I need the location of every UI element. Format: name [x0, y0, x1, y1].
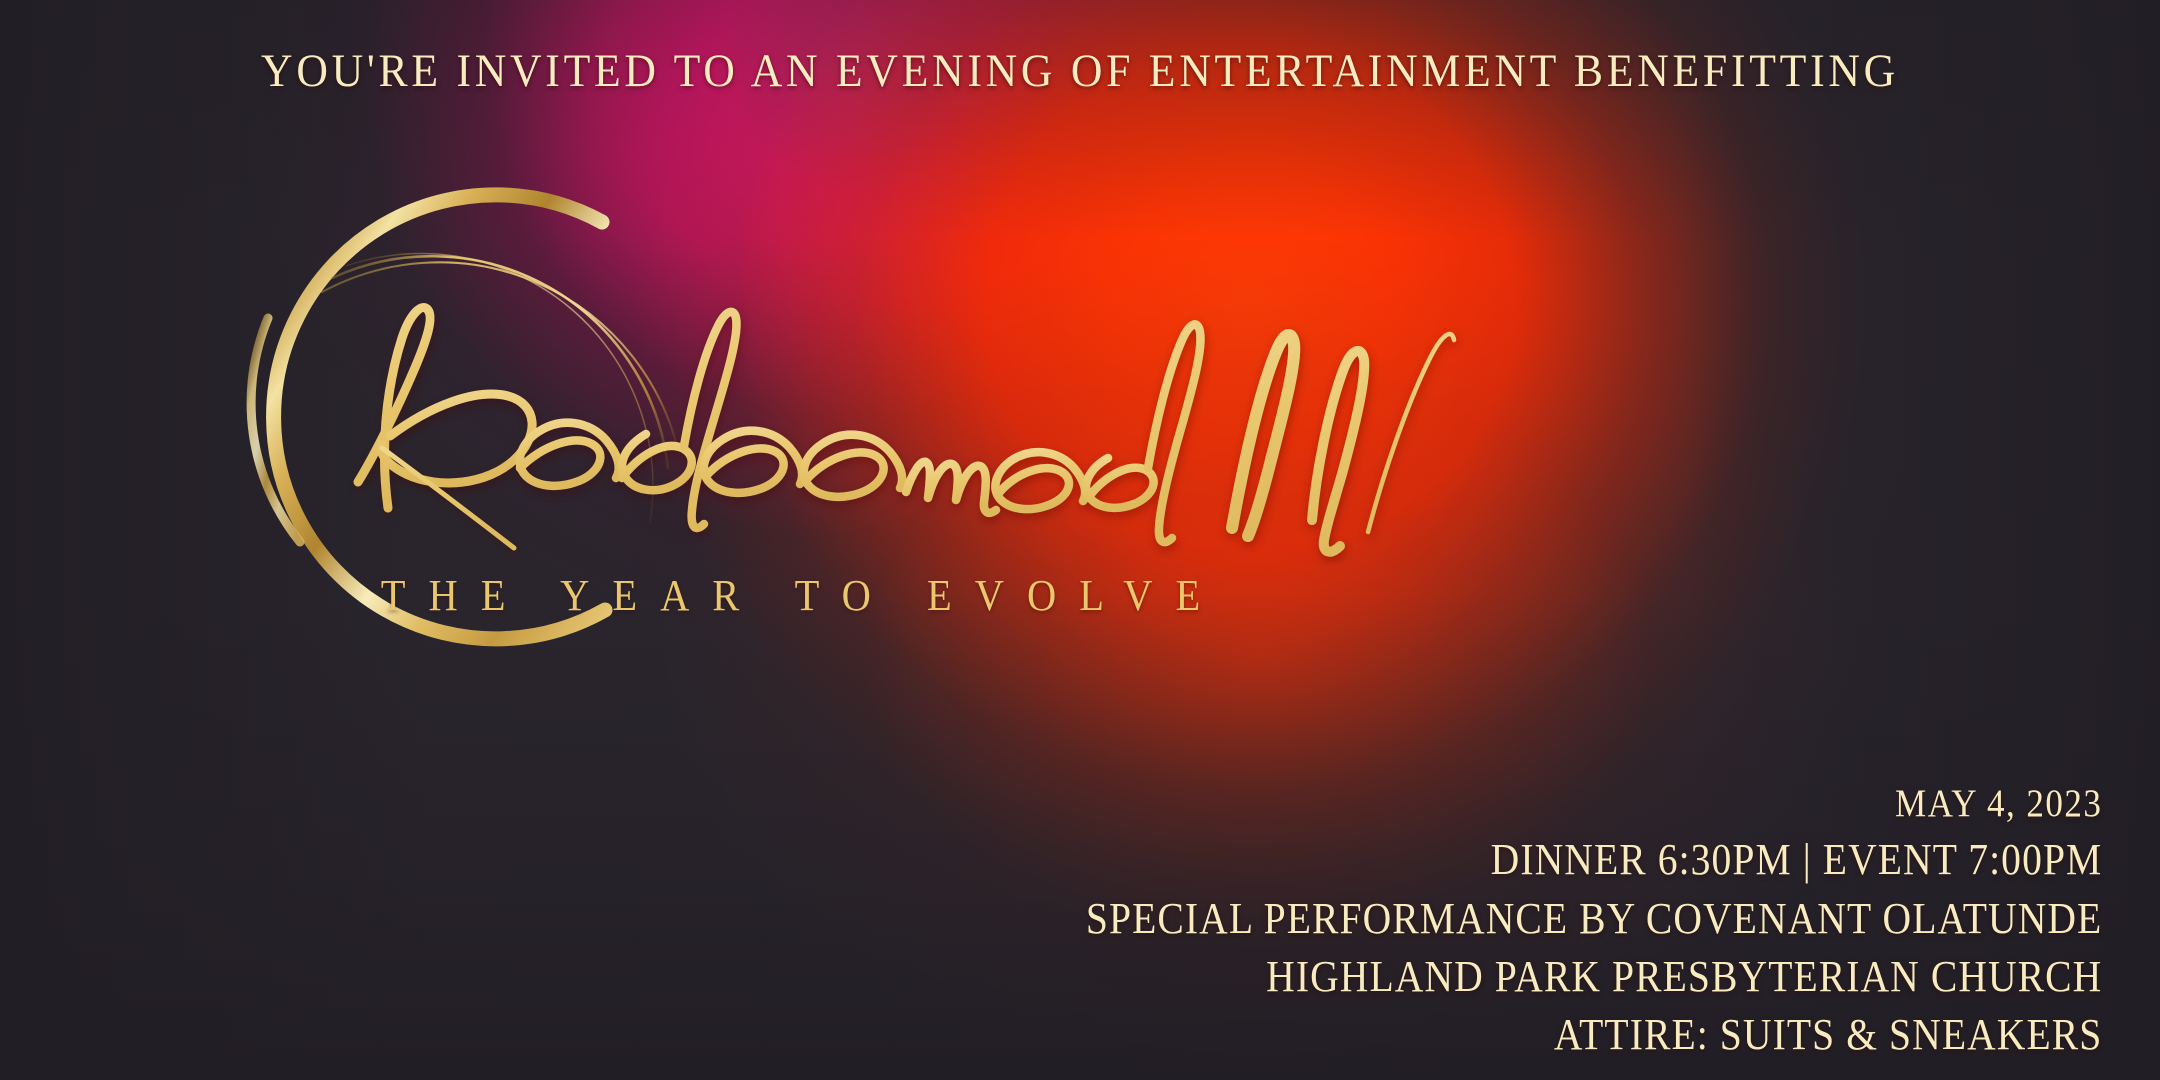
brand-logo: THE YEAR TO EVOLVE: [150, 150, 1350, 670]
detail-line-venue: HIGHLAND PARK PRESBYTERIAN CHURCH: [1086, 948, 2102, 1006]
page-title: YOU'RE INVITED TO AN EVENING OF ENTERTAI…: [76, 44, 2085, 98]
detail-line-performer: SPECIAL PERFORMANCE BY COVENANT OLATUNDE: [1086, 890, 2102, 948]
detail-line-attire: ATTIRE: SUITS & SNEAKERS: [1086, 1006, 2102, 1064]
detail-line-date: MAY 4, 2023: [1086, 778, 2102, 830]
event-details: MAY 4, 2023 DINNER 6:30PM | EVENT 7:00PM…: [973, 778, 2102, 1064]
brand-tagline: THE YEAR TO EVOLVE: [342, 570, 1262, 621]
invitation-canvas: YOU'RE INVITED TO AN EVENING OF ENTERTAI…: [0, 0, 2160, 1080]
detail-line-times: DINNER 6:30PM | EVENT 7:00PM: [1086, 830, 2102, 890]
wordmark-redeemed-women: [270, 260, 1360, 550]
